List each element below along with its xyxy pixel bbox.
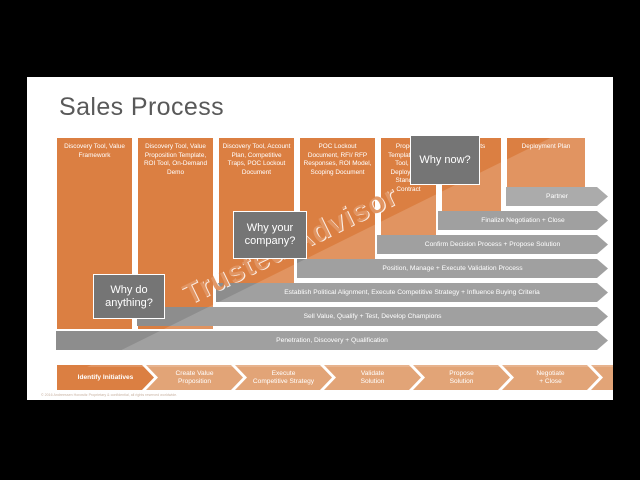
stage-identify-initiatives[interactable]: Identify Initiatives xyxy=(57,365,154,390)
stage-create-value-proposition-line2: Proposition xyxy=(173,378,217,386)
resource-column-2-text: Discovery Tool, Value Proposition Templa… xyxy=(141,143,210,177)
stage-identify-initiatives-line1: Identify Initiatives xyxy=(75,374,137,382)
screenshot-stage: Sales Process Discovery Tool, Value Fram… xyxy=(0,0,640,480)
resource-column-3-text: Discovery Tool, Account Plan, Competitiv… xyxy=(222,143,291,177)
callout-why-now-text: Why now? xyxy=(419,154,470,167)
stage-validate-solution-line1: Validate xyxy=(358,370,388,378)
stage-deploy-develop-line1: Deploy + Develop xyxy=(610,374,613,382)
stage-validate-solution-line2: Solution xyxy=(358,378,388,386)
stage-validate-solution[interactable]: Validate Solution xyxy=(324,365,421,390)
copyright-footer: © 2016 Andreessen Horowitz Proprietary &… xyxy=(41,393,177,397)
activity-band-position-manage-text: Position, Manage + Execute Validation Pr… xyxy=(382,265,522,272)
resource-column-1-text: Discovery Tool, Value Framework xyxy=(60,143,129,160)
activity-band-finalize-negotiation-text: Finalize Negotiation + Close xyxy=(481,217,564,224)
callout-why-now: Why now? xyxy=(410,135,480,185)
activity-band-political-alignment-text: Establish Political Alignment, Execute C… xyxy=(284,289,540,296)
resource-column-7-text: Deployment Plan xyxy=(510,143,582,152)
page-title: Sales Process xyxy=(59,93,224,122)
activity-band-partner-text: Partner xyxy=(546,193,568,200)
activity-band-sell-value-text: Sell Value, Qualify + Test, Develop Cham… xyxy=(304,313,442,320)
stage-negotiate-close-line1: Negotiate xyxy=(533,370,567,378)
activity-band-sell-value: Sell Value, Qualify + Test, Develop Cham… xyxy=(137,307,608,326)
resource-column-4-text: POC Lockout Document, RFI/ RFP Responses… xyxy=(303,143,372,177)
activity-band-political-alignment: Establish Political Alignment, Execute C… xyxy=(216,283,608,302)
stage-create-value-proposition[interactable]: Create Value Proposition xyxy=(146,365,243,390)
stage-propose-solution-line1: Propose xyxy=(446,370,477,378)
activity-band-penetration-discovery: Penetration, Discovery + Qualification xyxy=(56,331,608,350)
stage-create-value-proposition-line1: Create Value xyxy=(173,370,217,378)
stage-execute-competitive-strategy[interactable]: Execute Competitive Strategy xyxy=(235,365,332,390)
callout-why-do-anything: Why do anything? xyxy=(93,274,165,319)
stage-negotiate-close[interactable]: Negotiate + Close xyxy=(502,365,599,390)
stage-propose-solution[interactable]: Propose Solution xyxy=(413,365,510,390)
presentation-slide: Sales Process Discovery Tool, Value Fram… xyxy=(27,77,613,400)
activity-band-confirm-decision-text: Confirm Decision Process + Propose Solut… xyxy=(425,241,560,248)
stage-execute-competitive-strategy-line1: Execute xyxy=(250,370,317,378)
resource-column-4: POC Lockout Document, RFI/ RFP Responses… xyxy=(299,137,376,267)
stage-negotiate-close-line2: + Close xyxy=(533,378,567,386)
activity-band-partner: Partner xyxy=(506,187,608,206)
callout-why-your-company: Why your company? xyxy=(233,211,307,259)
callout-why-do-anything-text: Why do anything? xyxy=(94,284,164,310)
callout-why-your-company-text: Why your company? xyxy=(234,222,306,248)
activity-band-penetration-discovery-text: Penetration, Discovery + Qualification xyxy=(276,337,388,344)
activity-band-confirm-decision: Confirm Decision Process + Propose Solut… xyxy=(377,235,608,254)
stage-propose-solution-line2: Solution xyxy=(446,378,477,386)
activity-band-finalize-negotiation: Finalize Negotiation + Close xyxy=(438,211,608,230)
activity-band-position-manage: Position, Manage + Execute Validation Pr… xyxy=(297,259,608,278)
stage-execute-competitive-strategy-line2: Competitive Strategy xyxy=(250,378,317,386)
